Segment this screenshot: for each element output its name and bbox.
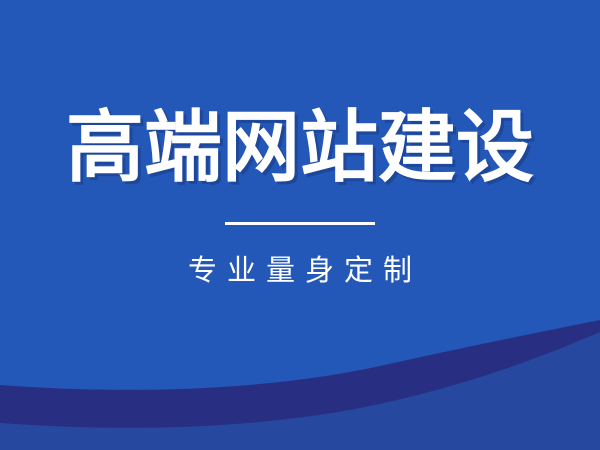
title-divider xyxy=(225,222,375,225)
banner-content: 高端网站建设 专业量身定制 xyxy=(0,0,600,450)
banner-subtitle: 专业量身定制 xyxy=(178,257,422,286)
promo-banner: 高端网站建设 专业量身定制 xyxy=(0,0,600,450)
banner-title: 高端网站建设 xyxy=(66,108,534,186)
